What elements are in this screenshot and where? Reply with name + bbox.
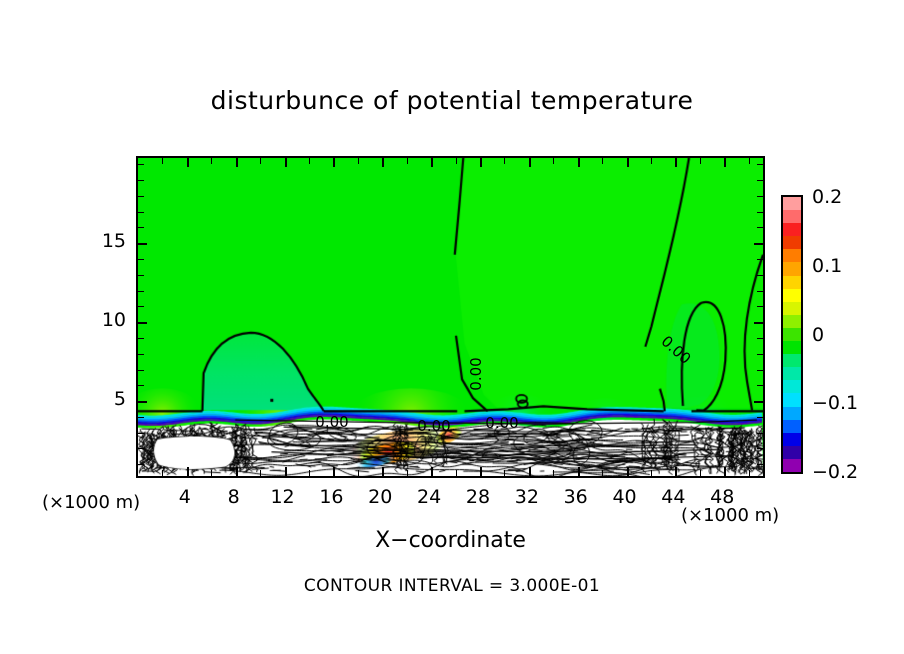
x-tick-50 xyxy=(749,158,750,164)
y-tick-17 xyxy=(757,212,763,213)
y-tick-13 xyxy=(757,275,763,276)
colorbar-band-8 xyxy=(783,302,801,315)
contour-label-2: 0.00 xyxy=(315,413,348,431)
x-tick-12 xyxy=(285,158,287,167)
x-axis-title: X−coordinate xyxy=(136,528,765,553)
x-tick-8 xyxy=(236,158,238,167)
colorbar-band-11 xyxy=(783,341,801,354)
y-tick-19 xyxy=(138,180,144,181)
colorbar-label-3: −0.1 xyxy=(812,392,858,414)
x-tick-2 xyxy=(162,158,163,164)
x-tick-14 xyxy=(309,158,310,164)
y-tick-5 xyxy=(138,401,147,403)
y-tick-label-5: 5 xyxy=(90,388,126,410)
y-tick-6 xyxy=(757,385,763,386)
y-tick-8 xyxy=(757,354,763,355)
y-tick-2 xyxy=(138,448,144,449)
x-tick-22 xyxy=(407,158,408,164)
x-tick-22 xyxy=(407,470,408,476)
y-tick-label-15: 15 xyxy=(90,230,126,252)
colorbar-band-2 xyxy=(783,223,801,236)
x-tick-label-40: 40 xyxy=(612,486,636,508)
x-tick-42 xyxy=(651,158,652,164)
x-units-right: (×1000 m) xyxy=(681,505,779,526)
colorbar-band-12 xyxy=(783,354,801,367)
x-tick-32 xyxy=(529,467,531,476)
x-tick-30 xyxy=(504,470,505,476)
y-tick-20 xyxy=(757,164,763,165)
x-tick-46 xyxy=(700,158,701,164)
y-tick-12 xyxy=(757,291,763,292)
y-tick-14 xyxy=(138,259,144,260)
x-tick-label-12: 12 xyxy=(270,486,294,508)
x-tick-20 xyxy=(382,158,384,167)
x-tick-50 xyxy=(749,470,750,476)
x-tick-6 xyxy=(211,158,212,164)
plot-area[interactable]: 0.000.000.000.000.00 xyxy=(136,156,765,478)
x-tick-34 xyxy=(553,158,554,164)
colorbar-band-7 xyxy=(783,289,801,302)
colorbar-label-1: 0.1 xyxy=(812,255,842,277)
colorbar-band-10 xyxy=(783,328,801,341)
colorbar-label-2: 0 xyxy=(812,324,824,346)
y-tick-15 xyxy=(138,243,147,245)
y-tick-20 xyxy=(138,164,144,165)
x-tick-26 xyxy=(456,158,457,164)
x-tick-label-8: 8 xyxy=(228,486,240,508)
x-tick-28 xyxy=(480,467,482,476)
colorbar-band-15 xyxy=(783,393,801,406)
y-tick-3 xyxy=(138,433,144,434)
x-tick-48 xyxy=(724,158,726,167)
x-tick-16 xyxy=(333,467,335,476)
x-tick-10 xyxy=(260,470,261,476)
x-tick-label-36: 36 xyxy=(564,486,588,508)
x-tick-8 xyxy=(236,467,238,476)
x-tick-30 xyxy=(504,158,505,164)
x-tick-label-32: 32 xyxy=(515,486,539,508)
x-tick-26 xyxy=(456,470,457,476)
x-tick-6 xyxy=(211,470,212,476)
y-tick-7 xyxy=(138,370,144,371)
colorbar-band-19 xyxy=(783,446,801,459)
y-tick-10 xyxy=(138,322,147,324)
x-tick-label-24: 24 xyxy=(417,486,441,508)
colorbar-band-0 xyxy=(783,197,801,210)
x-tick-14 xyxy=(309,470,310,476)
y-tick-16 xyxy=(757,227,763,228)
x-tick-48 xyxy=(724,467,726,476)
colorbar[interactable] xyxy=(781,195,803,474)
y-tick-18 xyxy=(757,196,763,197)
contour-label-3: 0.00 xyxy=(417,417,450,435)
y-tick-14 xyxy=(757,259,763,260)
y-tick-10 xyxy=(754,322,763,324)
x-tick-20 xyxy=(382,467,384,476)
colorbar-band-16 xyxy=(783,407,801,420)
x-tick-42 xyxy=(651,470,652,476)
x-tick-label-28: 28 xyxy=(466,486,490,508)
y-tick-1 xyxy=(757,464,763,465)
colorbar-band-3 xyxy=(783,236,801,249)
colorbar-band-17 xyxy=(783,420,801,433)
x-tick-46 xyxy=(700,470,701,476)
x-tick-10 xyxy=(260,158,261,164)
colorbar-band-9 xyxy=(783,315,801,328)
y-tick-11 xyxy=(757,306,763,307)
y-tick-label-10: 10 xyxy=(90,309,126,331)
x-tick-36 xyxy=(578,467,580,476)
y-tick-19 xyxy=(757,180,763,181)
colorbar-band-20 xyxy=(783,459,801,472)
y-tick-4 xyxy=(138,417,144,418)
y-tick-4 xyxy=(757,417,763,418)
x-tick-16 xyxy=(333,158,335,167)
y-tick-6 xyxy=(138,385,144,386)
figure-canvas: disturbunce of potential temperature 0.0… xyxy=(0,0,904,654)
colorbar-band-5 xyxy=(783,262,801,275)
y-tick-2 xyxy=(757,448,763,449)
x-units-left: (×1000 m) xyxy=(42,492,140,513)
y-tick-1 xyxy=(138,464,144,465)
colorbar-band-13 xyxy=(783,367,801,380)
y-tick-11 xyxy=(138,306,144,307)
y-tick-5 xyxy=(754,401,763,403)
x-tick-label-16: 16 xyxy=(319,486,343,508)
x-tick-40 xyxy=(627,158,629,167)
x-tick-38 xyxy=(602,470,603,476)
x-tick-18 xyxy=(358,158,359,164)
y-tick-9 xyxy=(757,338,763,339)
x-tick-38 xyxy=(602,158,603,164)
x-tick-40 xyxy=(627,467,629,476)
contour-label-0: 0.00 xyxy=(467,357,485,390)
y-tick-16 xyxy=(138,227,144,228)
colorbar-band-18 xyxy=(783,433,801,446)
y-tick-15 xyxy=(754,243,763,245)
x-tick-12 xyxy=(285,467,287,476)
contour-interval-note: CONTOUR INTERVAL = 3.000E-01 xyxy=(0,576,904,596)
colorbar-band-4 xyxy=(783,249,801,262)
y-tick-13 xyxy=(138,275,144,276)
colorbar-band-1 xyxy=(783,210,801,223)
y-tick-17 xyxy=(138,212,144,213)
y-tick-9 xyxy=(138,338,144,339)
y-tick-7 xyxy=(757,370,763,371)
y-tick-18 xyxy=(138,196,144,197)
page-title: disturbunce of potential temperature xyxy=(0,86,904,115)
x-tick-44 xyxy=(675,467,677,476)
x-tick-32 xyxy=(529,158,531,167)
colorbar-band-6 xyxy=(783,276,801,289)
y-tick-8 xyxy=(138,354,144,355)
contour-label-4: 0.00 xyxy=(485,414,518,432)
x-tick-44 xyxy=(675,158,677,167)
x-tick-label-4: 4 xyxy=(179,486,191,508)
x-tick-4 xyxy=(187,158,189,167)
x-tick-34 xyxy=(553,470,554,476)
x-tick-2 xyxy=(162,470,163,476)
x-tick-28 xyxy=(480,158,482,167)
x-tick-4 xyxy=(187,467,189,476)
y-tick-3 xyxy=(757,433,763,434)
x-tick-label-20: 20 xyxy=(368,486,392,508)
x-tick-24 xyxy=(431,467,433,476)
x-tick-24 xyxy=(431,158,433,167)
colorbar-label-0: 0.2 xyxy=(812,186,842,208)
y-tick-12 xyxy=(138,291,144,292)
x-tick-36 xyxy=(578,158,580,167)
x-tick-18 xyxy=(358,470,359,476)
colorbar-band-14 xyxy=(783,380,801,393)
colorbar-label-4: −0.2 xyxy=(812,461,858,483)
